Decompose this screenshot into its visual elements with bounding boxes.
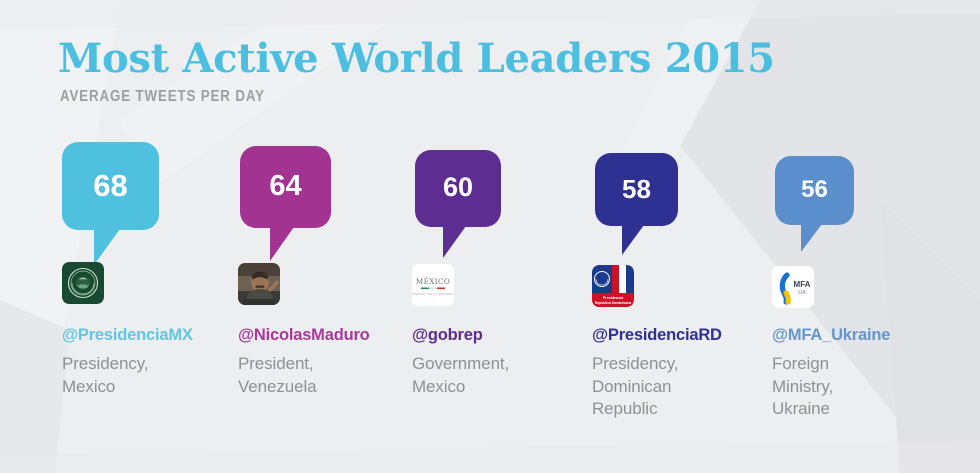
bubble-body: 58 <box>595 153 678 226</box>
bubble-tail <box>94 229 120 265</box>
tweet-count-bubble: 60 <box>415 150 501 259</box>
mexico-gov-logo-icon: MÉXICO GOBIERNO DE LA REPUBLICA <box>412 264 454 306</box>
tweet-count-bubble: 68 <box>62 142 159 266</box>
twitter-handle[interactable]: @NicolasMaduro <box>238 326 370 345</box>
bubble-body: 56 <box>775 156 854 225</box>
mexico-coat-of-arms-icon <box>62 262 104 304</box>
tweet-count-value: 60 <box>443 174 473 201</box>
infographic-canvas: Most Active World Leaders 2015 AVERAGE T… <box>0 0 980 473</box>
svg-text:MFA: MFA <box>794 280 811 289</box>
twitter-handle[interactable]: @MFA_Ukraine <box>772 326 890 345</box>
bubble-body: 64 <box>240 146 331 228</box>
tweet-count-value: 68 <box>93 170 127 201</box>
twitter-handle[interactable]: @PresidenciaMX <box>62 326 193 345</box>
bubble-body: 68 <box>62 142 159 230</box>
svg-text:GOBIERNO DE LA REPUBLICA: GOBIERNO DE LA REPUBLICA <box>412 292 454 296</box>
bubble-tail <box>443 226 466 258</box>
bubble-tail <box>622 225 644 255</box>
bubble-tail <box>801 224 822 252</box>
leaders-list: 68 @PresidenciaMXPresidency, Mexico64 <box>0 0 980 473</box>
tweet-count-bubble: 64 <box>240 146 331 262</box>
tweet-count-value: 56 <box>801 178 828 202</box>
tweet-count-bubble: 58 <box>595 153 678 256</box>
leader-role-description: President, Venezuela <box>238 353 317 398</box>
svg-text:Presidencia: Presidencia <box>603 296 624 300</box>
svg-text:UA: UA <box>798 290 806 296</box>
dominican-republic-seal-icon: Presidencia República Dominicana <box>592 265 634 307</box>
bubble-tail <box>270 227 294 261</box>
tweet-count-value: 58 <box>622 176 651 202</box>
leader-role-description: Foreign Ministry, Ukraine <box>772 353 833 421</box>
leader-role-description: Presidency, Dominican Republic <box>592 353 678 421</box>
svg-text:MÉXICO: MÉXICO <box>416 277 450 286</box>
tweet-count-value: 64 <box>269 172 301 201</box>
svg-text:República Dominicana: República Dominicana <box>595 301 631 305</box>
tweet-count-bubble: 56 <box>775 156 854 253</box>
leader-role-description: Presidency, Mexico <box>62 353 148 398</box>
leader-role-description: Government, Mexico <box>412 353 509 398</box>
twitter-handle[interactable]: @gobrep <box>412 326 483 345</box>
bubble-body: 60 <box>415 150 501 227</box>
twitter-handle[interactable]: @PresidenciaRD <box>592 326 722 345</box>
maduro-photo-icon <box>238 263 280 305</box>
mfa-ukraine-logo-icon: MFA UA <box>772 266 814 308</box>
